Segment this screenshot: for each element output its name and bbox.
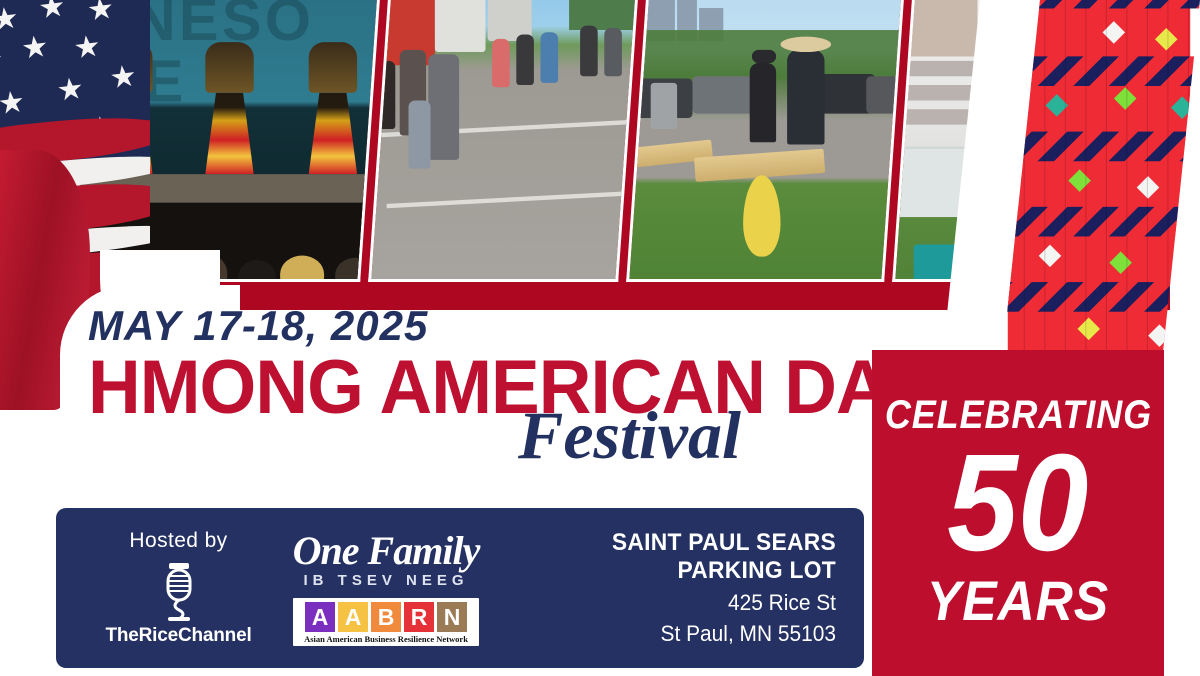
- anniversary-badge: CELEBRATING 50 YEARS: [872, 350, 1164, 676]
- venue-name: SAINT PAUL SEARS PARKING LOT: [518, 529, 836, 585]
- hosted-by-label: Hosted by: [86, 529, 271, 553]
- aabrn-logo: A A B R N Asian American Business Resili…: [293, 598, 479, 646]
- aabrn-letter: A: [338, 602, 368, 632]
- address-column: SAINT PAUL SEARS PARKING LOT 425 Rice St…: [501, 529, 864, 647]
- event-date: MAY 17-18, 2025: [88, 305, 964, 347]
- address-line-1: 425 Rice St: [518, 590, 836, 616]
- title-block: MAY 17-18, 2025 HMONG AMERICAN DAY Festi…: [88, 305, 964, 423]
- microphone-icon: [156, 561, 202, 623]
- host-name: TheRiceChannel: [86, 625, 271, 647]
- one-family-tagline: IB TSEV NEEG: [271, 572, 501, 589]
- aabrn-letter: N: [437, 602, 467, 632]
- aabrn-letters: A A B R N: [298, 602, 474, 632]
- aabrn-letter: A: [305, 602, 335, 632]
- festival-script: Festival: [518, 401, 741, 469]
- host-column: Hosted by TheRiceChannel: [56, 529, 271, 647]
- event-poster: NNESO TE: [0, 0, 1200, 676]
- aabrn-letter: B: [371, 602, 401, 632]
- photo-crowd: [368, 0, 638, 282]
- one-family-logo: One Family: [271, 531, 501, 571]
- aabrn-letter: R: [404, 602, 434, 632]
- badge-number: 50: [947, 440, 1088, 567]
- photo-cornhole: [626, 0, 904, 282]
- sponsor-column: One Family IB TSEV NEEG A A B R N Asian …: [271, 531, 501, 646]
- aabrn-caption: Asian American Business Resilience Netwo…: [298, 634, 474, 644]
- footer-bar: Hosted by TheRiceChannel One Family IB T…: [56, 508, 864, 668]
- page-title: HMONG AMERICAN DAY: [88, 353, 929, 423]
- address-line-2: St Paul, MN 55103: [518, 621, 836, 647]
- badge-years-label: YEARS: [927, 568, 1109, 633]
